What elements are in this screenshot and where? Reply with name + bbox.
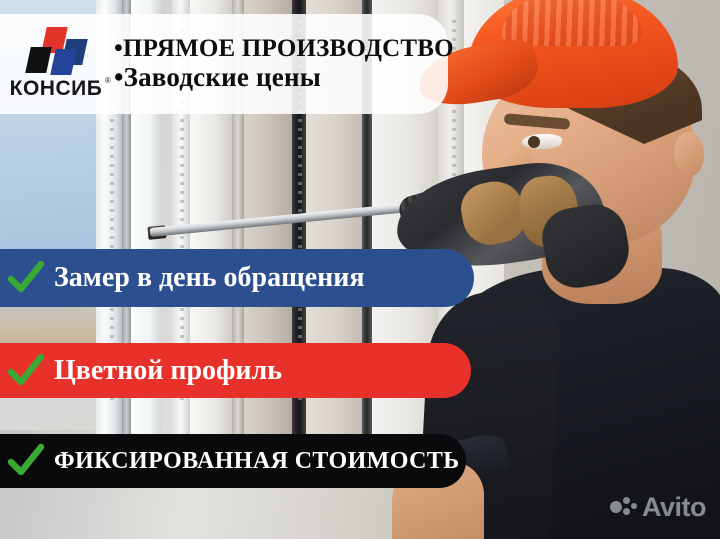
feature-label: Замер в день обращения <box>54 262 365 294</box>
brand-logo: КОНСИБ® <box>4 27 108 101</box>
worker-ear <box>674 132 704 176</box>
avito-watermark: Avito <box>610 492 706 523</box>
check-icon <box>6 351 46 391</box>
hard-hat-ribs <box>502 0 642 46</box>
avito-dot-icon <box>623 508 630 515</box>
headline-bullet-2: •Заводские цены <box>114 63 454 92</box>
avito-wordmark: Avito <box>642 492 706 523</box>
feature-pill-fixed-price: ФИКСИРОВАННАЯ СТОИМОСТЬ <box>0 434 466 488</box>
check-icon <box>6 441 46 481</box>
feature-pill-measurement: Замер в день обращения <box>0 249 474 307</box>
avito-dot-icon <box>623 497 630 504</box>
avito-dot-icon <box>631 503 637 509</box>
logo-diamond-black-icon <box>25 47 52 73</box>
feature-pill-colored-profile: Цветной профиль <box>0 343 471 398</box>
headline-banner: КОНСИБ® •ПРЯМОЕ ПРОИЗВОДСТВО •Заводские … <box>0 14 448 114</box>
avito-logo-icon <box>610 497 636 519</box>
feature-label: ФИКСИРОВАННАЯ СТОИМОСТЬ <box>54 448 459 475</box>
brand-name: КОНСИБ® <box>10 77 103 101</box>
brand-name-text: КОНСИБ <box>10 77 103 100</box>
check-icon <box>6 258 46 298</box>
logo-diamond-icon <box>26 27 86 75</box>
headline-bullet-1: •ПРЯМОЕ ПРОИЗВОДСТВО <box>114 36 454 63</box>
registered-trademark-icon: ® <box>105 76 111 85</box>
headline-bullet-list: •ПРЯМОЕ ПРОИЗВОДСТВО •Заводские цены <box>114 36 454 91</box>
feature-label: Цветной профиль <box>54 355 282 387</box>
worker-eye <box>522 134 562 149</box>
advertisement-banner: КОНСИБ® •ПРЯМОЕ ПРОИЗВОДСТВО •Заводские … <box>0 0 720 539</box>
logo-diamond-blue-icon <box>50 49 77 75</box>
avito-dot-icon <box>610 501 622 513</box>
